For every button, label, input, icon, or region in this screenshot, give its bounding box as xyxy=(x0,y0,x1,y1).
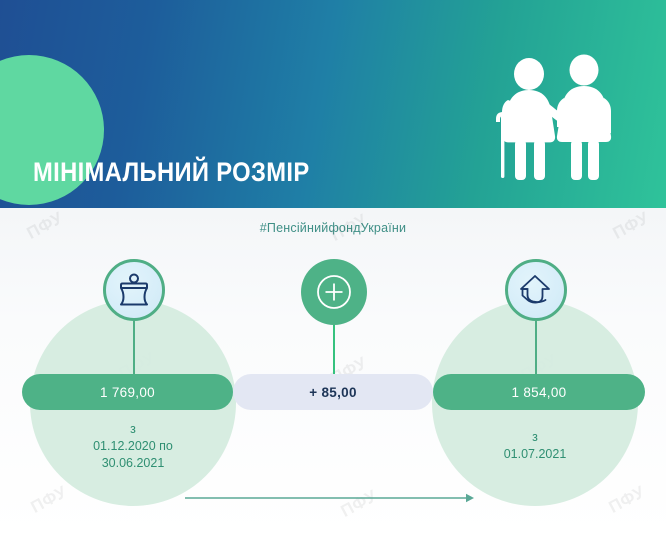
timeline-arrow xyxy=(185,492,475,504)
elderly-couple-icon xyxy=(487,52,617,187)
purse-icon-bubble xyxy=(103,259,165,321)
caption-before-line-1: з xyxy=(30,421,236,438)
connector-stem-before xyxy=(133,321,135,379)
page-title-line-1: МІНІМАЛЬНИЙ РОЗМІР xyxy=(33,150,403,194)
value-pill-before: 1 769,00 xyxy=(22,374,233,410)
plus-circle-bubble xyxy=(301,259,367,325)
infographic-root: МІНІМАЛЬНИЙ РОЗМІР ПЕНСІЇ ЗА ВІКОМ, ГРН xyxy=(0,0,666,535)
connector-stem-after xyxy=(535,321,537,379)
caption-after-line-1: з xyxy=(432,429,638,446)
caption-before-line-2: 01.12.2020 по xyxy=(30,438,236,455)
value-pill-after: 1 854,00 xyxy=(433,374,645,410)
header-banner: МІНІМАЛЬНИЙ РОЗМІР ПЕНСІЇ ЗА ВІКОМ, ГРН xyxy=(0,0,666,208)
value-after: 1 854,00 xyxy=(512,385,567,400)
watermark: ПФУ xyxy=(28,482,71,518)
purse-icon xyxy=(115,273,153,307)
page-title: МІНІМАЛЬНИЙ РОЗМІР ПЕНСІЇ ЗА ВІКОМ, ГРН xyxy=(33,62,403,208)
value-pill-delta: + 85,00 xyxy=(233,374,433,410)
connector-stem-delta xyxy=(333,325,335,381)
plus-circle-icon xyxy=(313,271,355,313)
value-delta: + 85,00 xyxy=(309,385,357,400)
caption-before: з 01.12.2020 по 30.06.2021 xyxy=(30,421,236,472)
caption-after-line-2: 01.07.2021 xyxy=(432,446,638,463)
value-before: 1 769,00 xyxy=(100,385,155,400)
watermark: ПФУ xyxy=(606,482,649,518)
caption-after: з 01.07.2021 xyxy=(432,429,638,463)
up-arrow-wave-icon xyxy=(516,272,556,308)
up-arrow-wave-bubble xyxy=(505,259,567,321)
hashtag-label: #ПенсійнийфондУкраїни xyxy=(0,221,666,235)
caption-before-line-3: 30.06.2021 xyxy=(30,455,236,472)
